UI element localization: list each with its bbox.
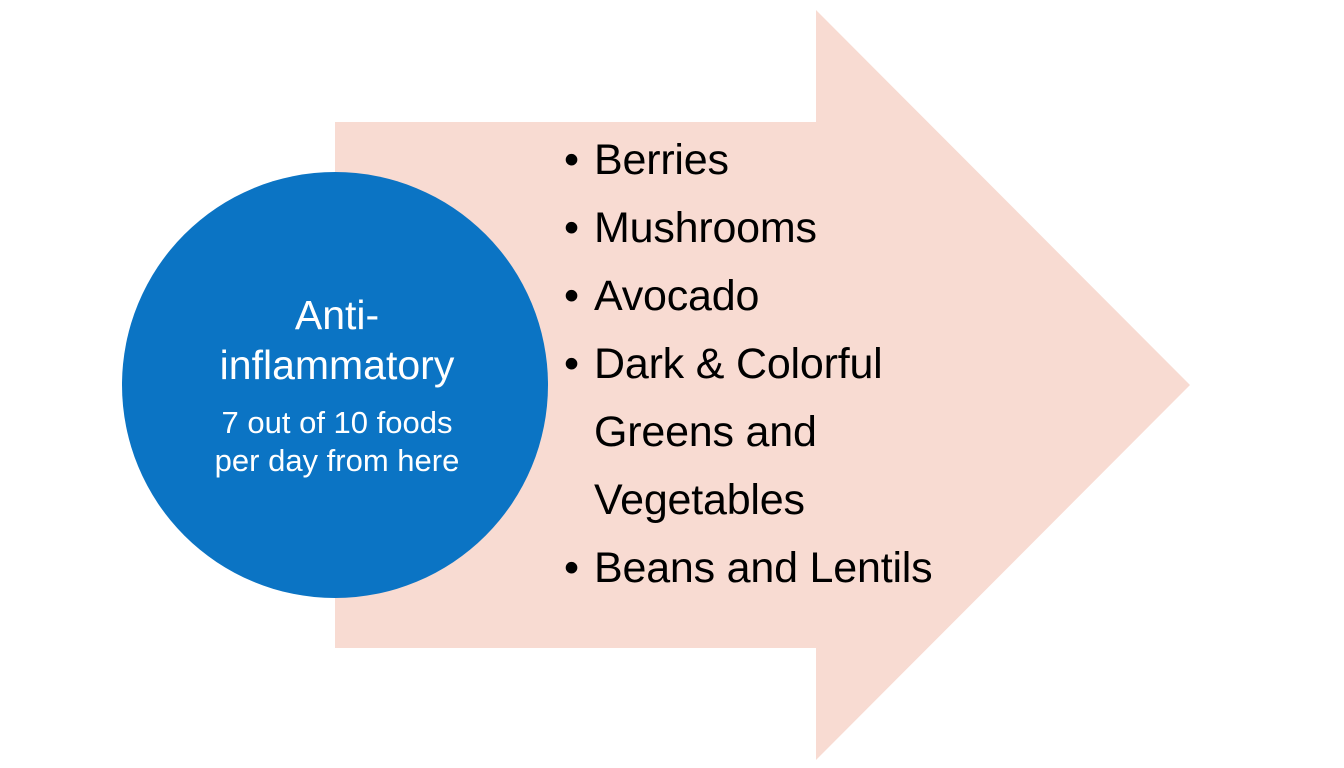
food-bullet-list: •Berries •Mushrooms •Avocado •Dark & Col…: [560, 126, 960, 602]
list-item-label: Avocado: [594, 272, 759, 320]
list-item[interactable]: •Mushrooms: [560, 194, 960, 262]
list-item-label: Dark & Colorful Greens and Vegetables: [594, 340, 883, 524]
list-item[interactable]: •Beans and Lentils: [560, 534, 960, 602]
list-item[interactable]: •Dark & Colorful Greens and Vegetables: [560, 330, 960, 534]
slide-canvas: •Berries •Mushrooms •Avocado •Dark & Col…: [0, 0, 1344, 768]
bullet-icon: •: [564, 330, 579, 398]
bullet-icon: •: [564, 262, 579, 330]
list-item[interactable]: •Avocado: [560, 262, 960, 330]
list-item-label: Beans and Lentils: [594, 544, 932, 592]
circle-title: Anti-inflammatory: [187, 290, 487, 390]
list-item-label: Mushrooms: [594, 204, 817, 252]
bullet-icon: •: [564, 194, 579, 262]
bullet-icon: •: [564, 534, 579, 602]
anti-inflammatory-circle[interactable]: Anti-inflammatory 7 out of 10 foods per …: [122, 172, 548, 598]
list-item-label: Berries: [594, 136, 729, 184]
list-item[interactable]: •Berries: [560, 126, 960, 194]
circle-subtitle: 7 out of 10 foods per day from here: [202, 404, 472, 480]
bullet-icon: •: [564, 126, 579, 194]
